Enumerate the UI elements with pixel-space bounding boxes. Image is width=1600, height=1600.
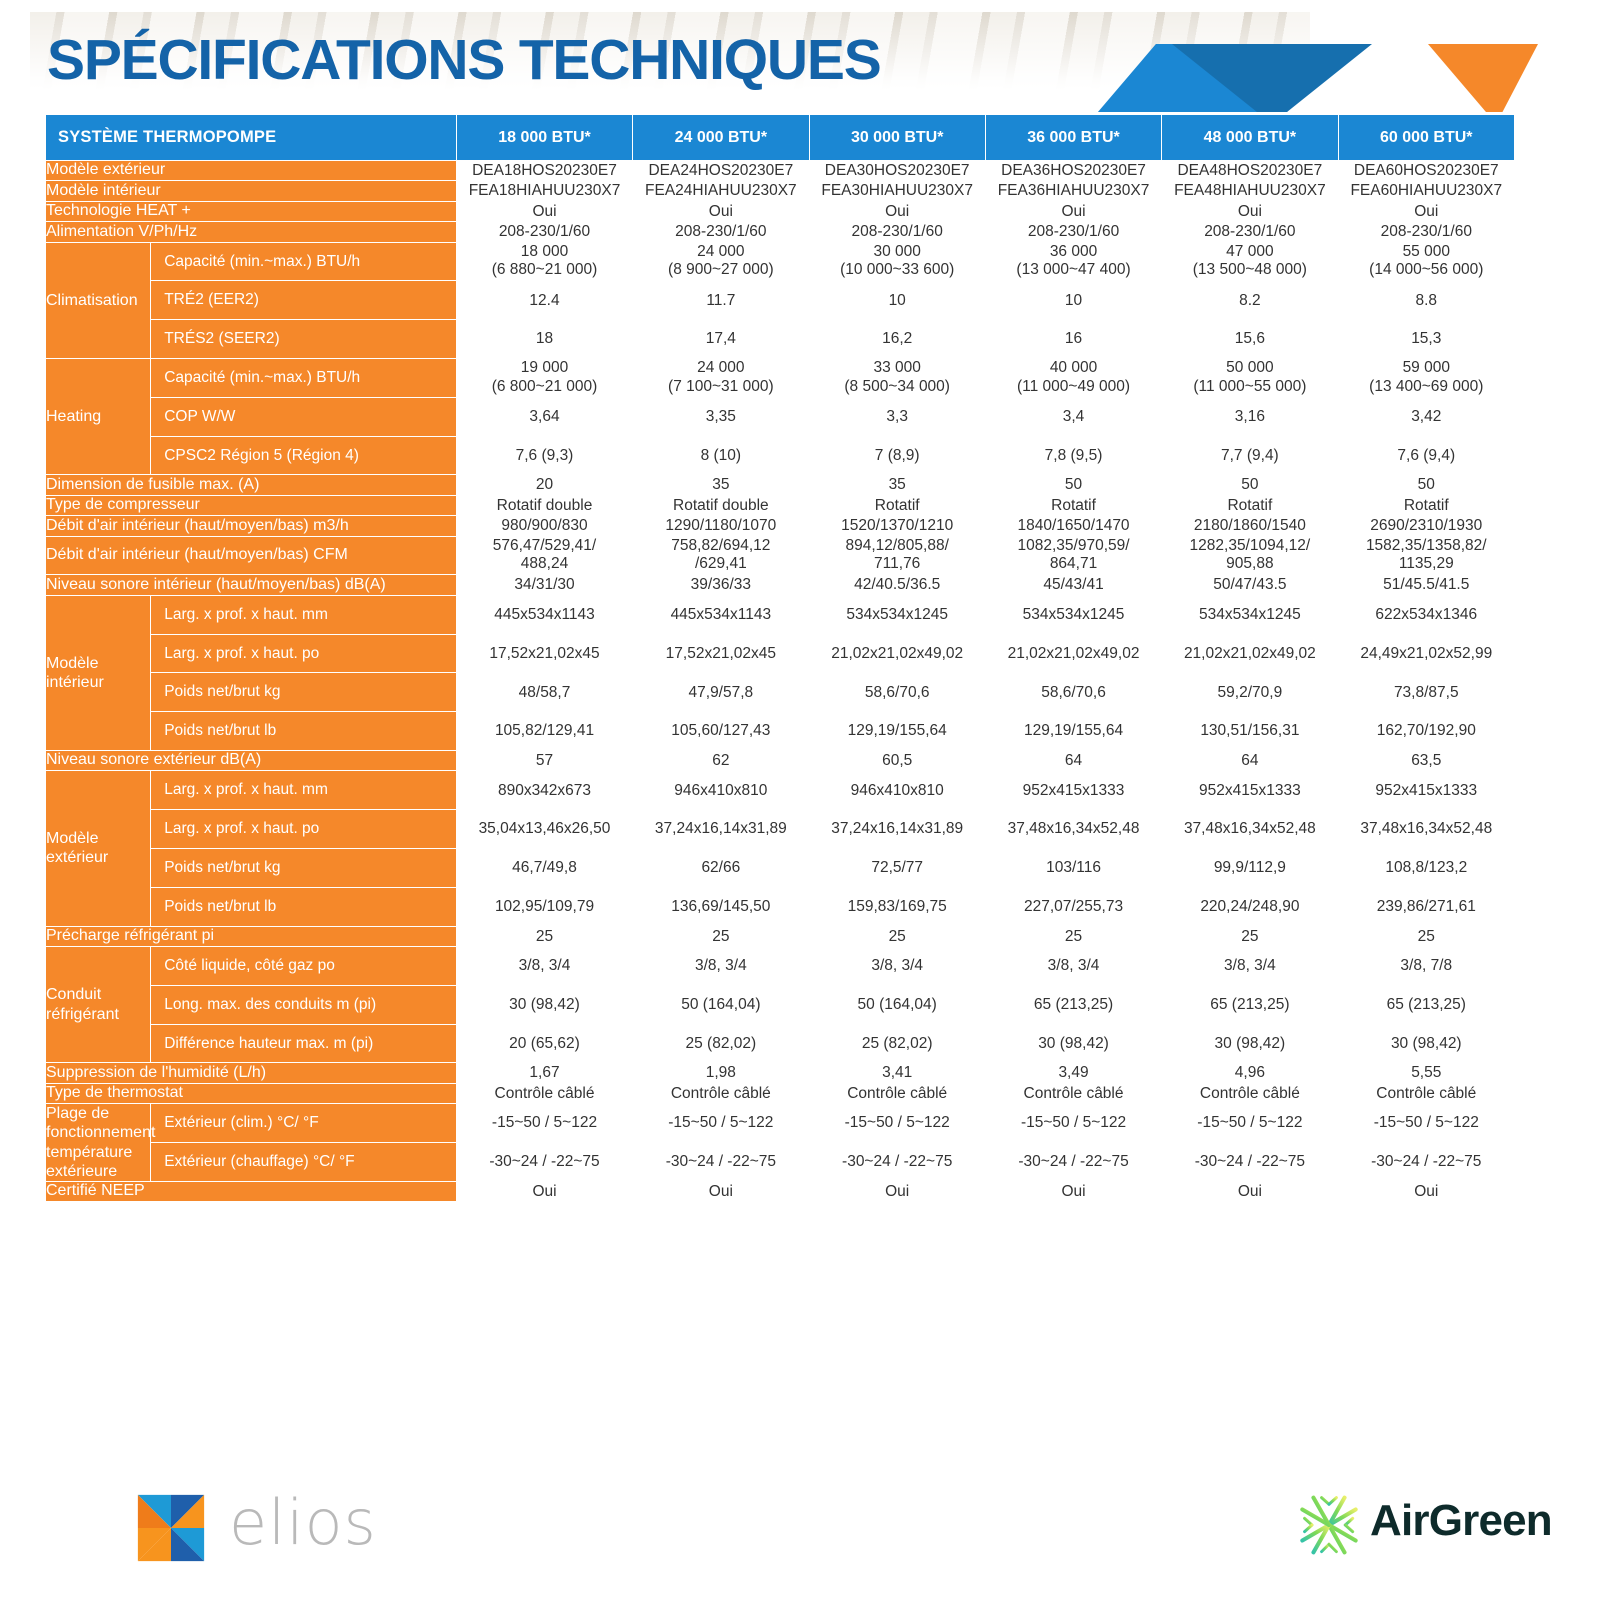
table-cell-value: 208-230/1/60: [985, 222, 1161, 242]
table-cell-value: 25: [985, 926, 1161, 946]
table-cell-value: 534x534x1245: [1162, 595, 1338, 634]
table-cell-value: -15~50 / 5~122: [633, 1104, 809, 1143]
table-cell-value: 102,95/109,79: [456, 887, 632, 926]
table-cell-value: 19 000(6 800~21 000): [456, 358, 632, 397]
table-cell-value: 47,9/57,8: [633, 673, 809, 712]
table-cell-value: Oui: [985, 201, 1161, 221]
table-cell-value: 62: [633, 750, 809, 770]
table-cell-value: -15~50 / 5~122: [1338, 1104, 1514, 1143]
table-cell-value: 129,19/155,64: [809, 712, 985, 751]
table-cell-value: 3,64: [456, 397, 632, 436]
table-cell-value: -15~50 / 5~122: [1162, 1104, 1338, 1143]
table-row: CPSC2 Région 5 (Région 4)7,6 (9,3)8 (10)…: [46, 436, 1515, 475]
row-label: Poids net/brut lb: [151, 712, 457, 751]
table-cell-value: Oui: [633, 201, 809, 221]
row-group-label: Modèleintérieur: [46, 595, 151, 750]
row-group-label: Plage defonctionnementtempératureextérie…: [46, 1104, 151, 1182]
table-cell-value: FEA48HIAHUU230X7: [1162, 181, 1338, 201]
table-cell-value: 63,5: [1338, 750, 1514, 770]
table-row: Poids net/brut lb105,82/129,41105,60/127…: [46, 712, 1515, 751]
table-row: Type de compresseurRotatif doubleRotatif…: [46, 495, 1515, 515]
table-cell-value: Rotatif: [1162, 495, 1338, 515]
table-row: Modèle extérieurDEA18HOS20230E7DEA24HOS2…: [46, 161, 1515, 181]
row-label: TRÉS2 (SEER2): [151, 320, 457, 359]
table-cell-value: DEA30HOS20230E7: [809, 161, 985, 181]
table-cell-value: Contrôle câblé: [633, 1083, 809, 1103]
row-label: Type de compresseur: [46, 495, 457, 515]
row-label: Débit d'air intérieur (haut/moyen/bas) m…: [46, 516, 457, 536]
table-cell-value: 445x534x1143: [633, 595, 809, 634]
table-cell-value: Rotatif double: [456, 495, 632, 515]
row-label: Poids net/brut kg: [151, 673, 457, 712]
table-cell-value: 208-230/1/60: [456, 222, 632, 242]
table-cell-value: 7,6 (9,3): [456, 436, 632, 475]
table-cell-value: 1,98: [633, 1063, 809, 1083]
row-label: Capacité (min.~max.) BTU/h: [151, 358, 457, 397]
row-label: Larg. x prof. x haut. po: [151, 810, 457, 849]
table-row: Débit d'air intérieur (haut/moyen/bas) C…: [46, 536, 1515, 575]
table-cell-value: 48/58,7: [456, 673, 632, 712]
table-cell-value: Oui: [1338, 201, 1514, 221]
table-cell-value: -30~24 / -22~75: [633, 1143, 809, 1182]
table-cell-value: 73,8/87,5: [1338, 673, 1514, 712]
table-cell-value: 21,02x21,02x49,02: [1162, 634, 1338, 673]
table-cell-value: 58,6/70,6: [809, 673, 985, 712]
table-cell-value: 36 000(13 000~47 400): [985, 242, 1161, 281]
table-cell-value: 2690/2310/1930: [1338, 516, 1514, 536]
table-cell-value: 16: [985, 320, 1161, 359]
table-cell-value: 15,3: [1338, 320, 1514, 359]
table-row: Technologie HEAT +OuiOuiOuiOuiOuiOui: [46, 201, 1515, 221]
table-cell-value: 59 000(13 400~69 000): [1338, 358, 1514, 397]
table-cell-value: 2180/1860/1540: [1162, 516, 1338, 536]
table-cell-value: Contrôle câblé: [456, 1083, 632, 1103]
table-cell-value: 21,02x21,02x49,02: [809, 634, 985, 673]
table-cell-value: -30~24 / -22~75: [1162, 1143, 1338, 1182]
table-cell-value: 103/116: [985, 848, 1161, 887]
row-label: Précharge réfrigérant pi: [46, 926, 457, 946]
row-label: Larg. x prof. x haut. po: [151, 634, 457, 673]
table-cell-value: 24 000(7 100~31 000): [633, 358, 809, 397]
table-row: TRÉS2 (SEER2)1817,416,21615,615,3: [46, 320, 1515, 359]
table-cell-value: 25 (82,02): [633, 1024, 809, 1063]
table-cell-value: 50: [1162, 475, 1338, 495]
table-cell-value: Oui: [633, 1181, 809, 1201]
header-system-label: SYSTÈME THERMOPOMPE: [46, 115, 457, 161]
table-cell-value: 3,4: [985, 397, 1161, 436]
table-cell-value: 534x534x1245: [809, 595, 985, 634]
row-label: Long. max. des conduits m (pi): [151, 985, 457, 1024]
table-cell-value: 20 (65,62): [456, 1024, 632, 1063]
table-cell-value: 45/43/41: [985, 575, 1161, 595]
table-cell-value: 208-230/1/60: [633, 222, 809, 242]
table-cell-value: 136,69/145,50: [633, 887, 809, 926]
row-label: Larg. x prof. x haut. mm: [151, 771, 457, 810]
table-cell-value: Oui: [1162, 1181, 1338, 1201]
table-row: Suppression de l'humidité (L/h)1,671,983…: [46, 1063, 1515, 1083]
table-cell-value: Oui: [456, 1181, 632, 1201]
table-cell-value: 8.2: [1162, 281, 1338, 320]
row-label: CPSC2 Région 5 (Région 4): [151, 436, 457, 475]
table-row: ModèleintérieurLarg. x prof. x haut. mm4…: [46, 595, 1515, 634]
table-cell-value: 57: [456, 750, 632, 770]
table-cell-value: FEA24HIAHUU230X7: [633, 181, 809, 201]
row-label: Côté liquide, côté gaz po: [151, 946, 457, 985]
table-row: Certifié NEEPOuiOuiOuiOuiOuiOui: [46, 1181, 1515, 1201]
header-capacity-column: 36 000 BTU*: [985, 115, 1161, 161]
row-label: Suppression de l'humidité (L/h): [46, 1063, 457, 1083]
table-cell-value: 208-230/1/60: [809, 222, 985, 242]
table-cell-value: Oui: [456, 201, 632, 221]
table-row: ConduitréfrigérantCôté liquide, côté gaz…: [46, 946, 1515, 985]
table-cell-value: 3,35: [633, 397, 809, 436]
table-row: Précharge réfrigérant pi252525252525: [46, 926, 1515, 946]
table-cell-value: 162,70/192,90: [1338, 712, 1514, 751]
table-cell-value: 946x410x810: [809, 771, 985, 810]
table-cell-value: 18: [456, 320, 632, 359]
table-cell-value: 25: [1338, 926, 1514, 946]
footer: elios: [0, 1470, 1600, 1600]
table-cell-value: FEA18HIAHUU230X7: [456, 181, 632, 201]
table-cell-value: 33 000(8 500~34 000): [809, 358, 985, 397]
table-cell-value: 65 (213,25): [1162, 985, 1338, 1024]
elios-pinwheel-icon: [125, 1482, 217, 1574]
airgreen-wordmark: AirGreen: [1370, 1499, 1552, 1543]
table-cell-value: -30~24 / -22~75: [985, 1143, 1161, 1182]
row-label: Type de thermostat: [46, 1083, 457, 1103]
table-cell-value: Rotatif: [1338, 495, 1514, 515]
table-cell-value: 51/45.5/41.5: [1338, 575, 1514, 595]
table-cell-value: 21,02x21,02x49,02: [985, 634, 1161, 673]
row-group-label: Modèleextérieur: [46, 771, 151, 926]
table-cell-value: Contrôle câblé: [1338, 1083, 1514, 1103]
row-group-label: Conduitréfrigérant: [46, 946, 151, 1062]
table-cell-value: 3,42: [1338, 397, 1514, 436]
row-label: Capacité (min.~max.) BTU/h: [151, 242, 457, 281]
table-cell-value: DEA60HOS20230E7: [1338, 161, 1514, 181]
table-cell-value: 24 000(8 900~27 000): [633, 242, 809, 281]
table-row: Débit d'air intérieur (haut/moyen/bas) m…: [46, 516, 1515, 536]
table-cell-value: 1290/1180/1070: [633, 516, 809, 536]
table-cell-value: Rotatif double: [633, 495, 809, 515]
table-cell-value: 3/8, 3/4: [456, 946, 632, 985]
table-cell-value: 50 000(11 000~55 000): [1162, 358, 1338, 397]
table-cell-value: -30~24 / -22~75: [809, 1143, 985, 1182]
table-cell-value: Rotatif: [809, 495, 985, 515]
table-cell-value: 37,24x16,14x31,89: [809, 810, 985, 849]
header-capacity-column: 18 000 BTU*: [456, 115, 632, 161]
page-title: SPÉCIFICATIONS TECHNIQUES: [47, 32, 881, 89]
table-cell-value: 25: [1162, 926, 1338, 946]
table-cell-value: 60,5: [809, 750, 985, 770]
row-label: Alimentation V/Ph/Hz: [46, 222, 457, 242]
row-label: Modèle intérieur: [46, 181, 457, 201]
row-group-label: Climatisation: [46, 242, 151, 358]
row-group-label: Heating: [46, 358, 151, 474]
table-cell-value: 1082,35/970,59/864,71: [985, 536, 1161, 575]
table-cell-value: 35: [633, 475, 809, 495]
row-label: Niveau sonore intérieur (haut/moyen/bas)…: [46, 575, 457, 595]
table-cell-value: 42/40.5/36.5: [809, 575, 985, 595]
table-cell-value: 37,24x16,14x31,89: [633, 810, 809, 849]
table-cell-value: 10: [985, 281, 1161, 320]
table-cell-value: 3,49: [985, 1063, 1161, 1083]
table-row: Long. max. des conduits m (pi)30 (98,42)…: [46, 985, 1515, 1024]
table-cell-value: 34/31/30: [456, 575, 632, 595]
table-cell-value: DEA36HOS20230E7: [985, 161, 1161, 181]
table-cell-value: 534x534x1245: [985, 595, 1161, 634]
row-label: Larg. x prof. x haut. mm: [151, 595, 457, 634]
table-cell-value: 952x415x1333: [1162, 771, 1338, 810]
table-cell-value: -15~50 / 5~122: [809, 1104, 985, 1143]
table-cell-value: Contrôle câblé: [985, 1083, 1161, 1103]
table-cell-value: 227,07/255,73: [985, 887, 1161, 926]
row-label: COP W/W: [151, 397, 457, 436]
table-cell-value: Oui: [1162, 201, 1338, 221]
table-cell-value: 17,52x21,02x45: [456, 634, 632, 673]
table-row: Plage defonctionnementtempératureextérie…: [46, 1104, 1515, 1143]
table-cell-value: Oui: [1338, 1181, 1514, 1201]
orange-triangle-shape: [1428, 44, 1538, 112]
table-cell-value: 159,83/169,75: [809, 887, 985, 926]
table-cell-value: 3/8, 3/4: [809, 946, 985, 985]
table-cell-value: 1,67: [456, 1063, 632, 1083]
table-cell-value: 220,24/248,90: [1162, 887, 1338, 926]
table-cell-value: 8 (10): [633, 436, 809, 475]
table-cell-value: 30 (98,42): [985, 1024, 1161, 1063]
table-cell-value: 30 (98,42): [1162, 1024, 1338, 1063]
table-cell-value: 1840/1650/1470: [985, 516, 1161, 536]
table-cell-value: 25 (82,02): [809, 1024, 985, 1063]
table-cell-value: 55 000(14 000~56 000): [1338, 242, 1514, 281]
table-row: Différence hauteur max. m (pi)20 (65,62)…: [46, 1024, 1515, 1063]
table-cell-value: 64: [1162, 750, 1338, 770]
specifications-table: SYSTÈME THERMOPOMPE18 000 BTU*24 000 BTU…: [45, 114, 1515, 1202]
table-row: Poids net/brut kg48/58,747,9/57,858,6/70…: [46, 673, 1515, 712]
table-cell-value: 894,12/805,88/711,76: [809, 536, 985, 575]
table-cell-value: 3,3: [809, 397, 985, 436]
table-cell-value: -30~24 / -22~75: [456, 1143, 632, 1182]
table-cell-value: 50: [1338, 475, 1514, 495]
table-cell-value: 62/66: [633, 848, 809, 887]
table-cell-value: 50: [985, 475, 1161, 495]
table-cell-value: 50 (164,04): [809, 985, 985, 1024]
table-cell-value: 25: [456, 926, 632, 946]
spec-sheet-page: SPÉCIFICATIONS TECHNIQUES SYSTÈME THERMO…: [0, 0, 1600, 1600]
row-label: Dimension de fusible max. (A): [46, 475, 457, 495]
row-label: Technologie HEAT +: [46, 201, 457, 221]
table-cell-value: Oui: [809, 1181, 985, 1201]
table-row: Poids net/brut lb102,95/109,79136,69/145…: [46, 887, 1515, 926]
header-capacity-column: 60 000 BTU*: [1338, 115, 1514, 161]
table-cell-value: 39/36/33: [633, 575, 809, 595]
table-cell-value: 3,16: [1162, 397, 1338, 436]
table-cell-value: 1520/1370/1210: [809, 516, 985, 536]
header-capacity-column: 30 000 BTU*: [809, 115, 985, 161]
table-cell-value: 576,47/529,41/488,24: [456, 536, 632, 575]
table-cell-value: 130,51/156,31: [1162, 712, 1338, 751]
row-label: TRÉ2 (EER2): [151, 281, 457, 320]
elios-logo: elios: [125, 1478, 375, 1583]
table-cell-value: 37,48x16,34x52,48: [1338, 810, 1514, 849]
table-cell-value: 99,9/112,9: [1162, 848, 1338, 887]
table-cell-value: 30 (98,42): [456, 985, 632, 1024]
table-cell-value: 208-230/1/60: [1338, 222, 1514, 242]
table-cell-value: 105,82/129,41: [456, 712, 632, 751]
table-cell-value: FEA36HIAHUU230X7: [985, 181, 1161, 201]
table-cell-value: 239,86/271,61: [1338, 887, 1514, 926]
table-cell-value: 5,55: [1338, 1063, 1514, 1083]
table-cell-value: 18 000(6 880~21 000): [456, 242, 632, 281]
row-label: Différence hauteur max. m (pi): [151, 1024, 457, 1063]
table-cell-value: Contrôle câblé: [809, 1083, 985, 1103]
table-row: Niveau sonore intérieur (haut/moyen/bas)…: [46, 575, 1515, 595]
table-row: COP W/W3,643,353,33,43,163,42: [46, 397, 1515, 436]
table-cell-value: 20: [456, 475, 632, 495]
table-row: TRÉ2 (EER2)12.411.710108.28.8: [46, 281, 1515, 320]
table-cell-value: DEA18HOS20230E7: [456, 161, 632, 181]
table-cell-value: 65 (213,25): [1338, 985, 1514, 1024]
table-body: SYSTÈME THERMOPOMPE18 000 BTU*24 000 BTU…: [46, 115, 1515, 1202]
table-cell-value: 59,2/70,9: [1162, 673, 1338, 712]
table-row: Larg. x prof. x haut. po35,04x13,46x26,5…: [46, 810, 1515, 849]
table-row: ClimatisationCapacité (min.~max.) BTU/h1…: [46, 242, 1515, 281]
table-cell-value: 3/8, 3/4: [633, 946, 809, 985]
row-label: Poids net/brut lb: [151, 887, 457, 926]
table-cell-value: 11.7: [633, 281, 809, 320]
table-cell-value: 890x342x673: [456, 771, 632, 810]
table-cell-value: 129,19/155,64: [985, 712, 1161, 751]
table-cell-value: DEA48HOS20230E7: [1162, 161, 1338, 181]
table-header-row: SYSTÈME THERMOPOMPE18 000 BTU*24 000 BTU…: [46, 115, 1515, 161]
table-cell-value: FEA60HIAHUU230X7: [1338, 181, 1514, 201]
table-cell-value: 445x534x1143: [456, 595, 632, 634]
row-label: Certifié NEEP: [46, 1181, 457, 1201]
table-cell-value: 7,6 (9,4): [1338, 436, 1514, 475]
table-cell-value: 3/8, 7/8: [1338, 946, 1514, 985]
row-label: Extérieur (clim.) °C/ °F: [151, 1104, 457, 1143]
table-cell-value: 758,82/694,12/629,41: [633, 536, 809, 575]
row-label: Extérieur (chauffage) °C/ °F: [151, 1143, 457, 1182]
table-cell-value: 3/8, 3/4: [1162, 946, 1338, 985]
table-cell-value: 7,7 (9,4): [1162, 436, 1338, 475]
table-cell-value: 37,48x16,34x52,48: [985, 810, 1161, 849]
airgreen-logo: AirGreen: [1292, 1484, 1507, 1568]
table-row: Dimension de fusible max. (A)20353550505…: [46, 475, 1515, 495]
table-cell-value: 3/8, 3/4: [985, 946, 1161, 985]
table-row: Modèle intérieurFEA18HIAHUU230X7FEA24HIA…: [46, 181, 1515, 201]
airgreen-sunburst-icon: [1292, 1488, 1366, 1562]
table-cell-value: 1282,35/1094,12/905,88: [1162, 536, 1338, 575]
table-cell-value: 35: [809, 475, 985, 495]
row-label: Modèle extérieur: [46, 161, 457, 181]
table-cell-value: 17,52x21,02x45: [633, 634, 809, 673]
table-cell-value: 65 (213,25): [985, 985, 1161, 1024]
table-row: Niveau sonore extérieur dB(A)576260,5646…: [46, 750, 1515, 770]
row-label: Niveau sonore extérieur dB(A): [46, 750, 457, 770]
table-row: Extérieur (chauffage) °C/ °F-30~24 / -22…: [46, 1143, 1515, 1182]
table-cell-value: 622x534x1346: [1338, 595, 1514, 634]
table-cell-value: 15,6: [1162, 320, 1338, 359]
table-cell-value: 30 (98,42): [1338, 1024, 1514, 1063]
table-cell-value: 946x410x810: [633, 771, 809, 810]
table-cell-value: 7 (8,9): [809, 436, 985, 475]
table-row: Poids net/brut kg46,7/49,862/6672,5/7710…: [46, 848, 1515, 887]
table-cell-value: Oui: [985, 1181, 1161, 1201]
header-capacity-column: 24 000 BTU*: [633, 115, 809, 161]
table-cell-value: 980/900/830: [456, 516, 632, 536]
table-cell-value: 64: [985, 750, 1161, 770]
table-row: Larg. x prof. x haut. po17,52x21,02x4517…: [46, 634, 1515, 673]
table-cell-value: 108,8/123,2: [1338, 848, 1514, 887]
table-cell-value: Rotatif: [985, 495, 1161, 515]
table-cell-value: 72,5/77: [809, 848, 985, 887]
table-cell-value: 25: [809, 926, 985, 946]
table-cell-value: 208-230/1/60: [1162, 222, 1338, 242]
table-cell-value: 50/47/43.5: [1162, 575, 1338, 595]
table-cell-value: Contrôle câblé: [1162, 1083, 1338, 1103]
table-cell-value: 50 (164,04): [633, 985, 809, 1024]
table-cell-value: 30 000(10 000~33 600): [809, 242, 985, 281]
table-row: ModèleextérieurLarg. x prof. x haut. mm8…: [46, 771, 1515, 810]
table-cell-value: 952x415x1333: [1338, 771, 1514, 810]
table-cell-value: -30~24 / -22~75: [1338, 1143, 1514, 1182]
table-row: Alimentation V/Ph/Hz208-230/1/60208-230/…: [46, 222, 1515, 242]
table-cell-value: 4,96: [1162, 1063, 1338, 1083]
table-cell-value: 952x415x1333: [985, 771, 1161, 810]
header-capacity-column: 48 000 BTU*: [1162, 115, 1338, 161]
table-cell-value: 16,2: [809, 320, 985, 359]
elios-wordmark: elios: [229, 1492, 377, 1554]
table-cell-value: Oui: [809, 201, 985, 221]
table-cell-value: 8.8: [1338, 281, 1514, 320]
table-cell-value: 1582,35/1358,82/1135,29: [1338, 536, 1514, 575]
table-cell-value: FEA30HIAHUU230X7: [809, 181, 985, 201]
table-cell-value: 105,60/127,43: [633, 712, 809, 751]
table-cell-value: 46,7/49,8: [456, 848, 632, 887]
table-row: HeatingCapacité (min.~max.) BTU/h19 000(…: [46, 358, 1515, 397]
table-cell-value: 3,41: [809, 1063, 985, 1083]
table-cell-value: 7,8 (9,5): [985, 436, 1161, 475]
table-cell-value: 12.4: [456, 281, 632, 320]
table-cell-value: -15~50 / 5~122: [985, 1104, 1161, 1143]
table-cell-value: 40 000(11 000~49 000): [985, 358, 1161, 397]
table-cell-value: 37,48x16,34x52,48: [1162, 810, 1338, 849]
table-cell-value: DEA24HOS20230E7: [633, 161, 809, 181]
table-cell-value: 47 000(13 500~48 000): [1162, 242, 1338, 281]
row-label: Poids net/brut kg: [151, 848, 457, 887]
table-cell-value: 58,6/70,6: [985, 673, 1161, 712]
table-row: Type de thermostatContrôle câbléContrôle…: [46, 1083, 1515, 1103]
table-cell-value: -15~50 / 5~122: [456, 1104, 632, 1143]
table-cell-value: 25: [633, 926, 809, 946]
table-cell-value: 10: [809, 281, 985, 320]
table-cell-value: 17,4: [633, 320, 809, 359]
table-cell-value: 35,04x13,46x26,50: [456, 810, 632, 849]
row-label: Débit d'air intérieur (haut/moyen/bas) C…: [46, 536, 457, 575]
table-cell-value: 24,49x21,02x52,99: [1338, 634, 1514, 673]
